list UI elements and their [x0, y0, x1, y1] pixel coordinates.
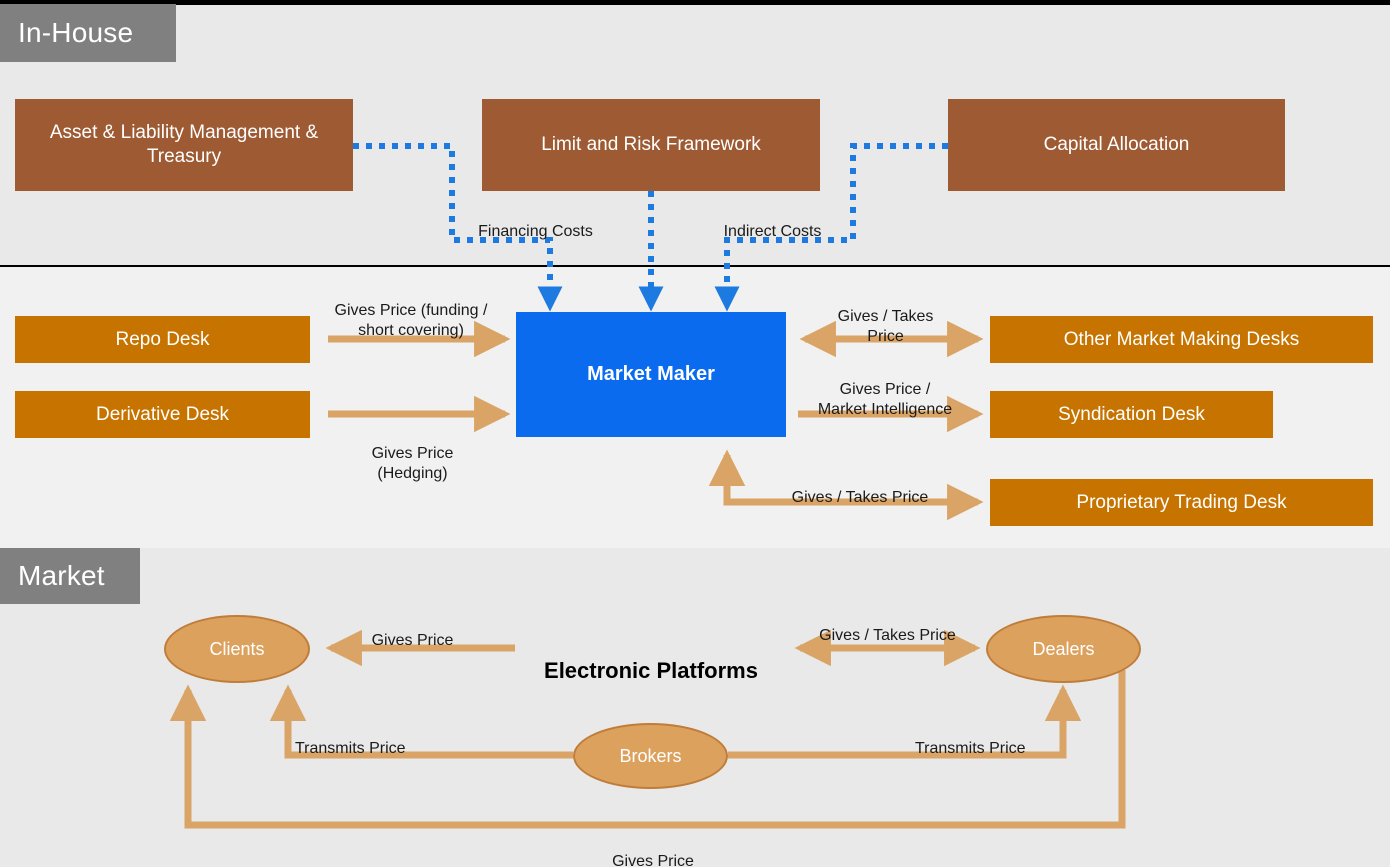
node-dealers[interactable]: Dealers — [986, 615, 1141, 683]
label-brokers-to-clients-text: Transmits Price — [295, 740, 406, 757]
section-title-in-house-label: In-House — [18, 17, 133, 49]
label-platforms-dealers: Gives / Takes Price — [800, 606, 975, 646]
box-repo-desk[interactable]: Repo Desk — [15, 316, 310, 363]
label-derivative-to-market-maker-text: Gives Price (Hedging) — [372, 445, 454, 482]
label-platforms-dealers-text: Gives / Takes Price — [819, 627, 956, 644]
label-market-maker-other-desks-text: Gives / Takes Price — [838, 308, 934, 345]
box-limit-and-risk-framework[interactable]: Limit and Risk Framework — [482, 99, 820, 191]
box-proprietary-trading-desk[interactable]: Proprietary Trading Desk — [990, 479, 1373, 526]
box-asset-liability-management-treasury-label: Asset & Liability Management & Treasury — [29, 121, 339, 169]
box-other-market-making-desks[interactable]: Other Market Making Desks — [990, 316, 1373, 363]
node-brokers[interactable]: Brokers — [573, 723, 728, 789]
label-market-maker-to-syndication-text: Gives Price / Market Intelligence — [818, 381, 952, 418]
box-market-maker-label: Market Maker — [587, 362, 715, 387]
label-brokers-to-clients: Transmits Price — [295, 719, 455, 759]
box-other-market-making-desks-label: Other Market Making Desks — [1064, 328, 1299, 352]
label-financing-costs: Financing Costs — [438, 202, 633, 242]
node-electronic-platforms: Electronic Platforms — [521, 629, 781, 684]
section-title-market: Market — [0, 548, 140, 604]
label-dealers-to-clients-text: Gives Price — [612, 853, 694, 867]
box-derivative-desk-label: Derivative Desk — [96, 403, 229, 427]
label-market-maker-prop-desk: Gives / Takes Price — [760, 468, 960, 508]
label-repo-to-market-maker-text: Gives Price (funding / short covering) — [335, 302, 488, 339]
label-market-maker-prop-desk-text: Gives / Takes Price — [792, 489, 929, 506]
box-syndication-desk-label: Syndication Desk — [1058, 403, 1205, 427]
node-clients-label: Clients — [209, 639, 264, 660]
label-brokers-to-dealers-text: Transmits Price — [915, 740, 1026, 757]
box-repo-desk-label: Repo Desk — [116, 328, 210, 352]
label-indirect-costs: Indirect Costs — [690, 202, 855, 242]
top-border-strip — [0, 0, 1390, 5]
diagram-canvas: In-House Market Asset & Liability Manage… — [0, 0, 1390, 867]
box-capital-allocation-label: Capital Allocation — [1044, 133, 1190, 157]
box-proprietary-trading-desk-label: Proprietary Trading Desk — [1076, 491, 1286, 515]
section-title-market-label: Market — [18, 560, 105, 592]
label-platforms-to-clients-text: Gives Price — [372, 632, 454, 649]
label-platforms-to-clients: Gives Price — [330, 611, 495, 651]
section-title-in-house: In-House — [0, 4, 176, 62]
box-limit-and-risk-framework-label: Limit and Risk Framework — [541, 133, 761, 157]
node-dealers-label: Dealers — [1032, 639, 1094, 660]
label-financing-costs-text: Financing Costs — [478, 223, 593, 240]
label-repo-to-market-maker: Gives Price (funding / short covering) — [313, 281, 509, 341]
box-market-maker[interactable]: Market Maker — [516, 312, 786, 437]
box-derivative-desk[interactable]: Derivative Desk — [15, 391, 310, 438]
label-brokers-to-dealers: Transmits Price — [915, 719, 1075, 759]
section-market-band — [0, 548, 1390, 867]
label-derivative-to-market-maker: Gives Price (Hedging) — [330, 424, 495, 484]
box-capital-allocation[interactable]: Capital Allocation — [948, 99, 1285, 191]
label-dealers-to-clients: Gives Price — [573, 832, 733, 867]
node-clients[interactable]: Clients — [164, 615, 310, 683]
node-electronic-platforms-label: Electronic Platforms — [544, 658, 758, 683]
label-market-maker-other-desks: Gives / Takes Price — [803, 287, 968, 347]
box-asset-liability-management-treasury[interactable]: Asset & Liability Management & Treasury — [15, 99, 353, 191]
box-syndication-desk[interactable]: Syndication Desk — [990, 391, 1273, 438]
node-brokers-label: Brokers — [619, 746, 681, 767]
label-indirect-costs-text: Indirect Costs — [724, 223, 822, 240]
label-market-maker-to-syndication: Gives Price / Market Intelligence — [795, 360, 975, 420]
